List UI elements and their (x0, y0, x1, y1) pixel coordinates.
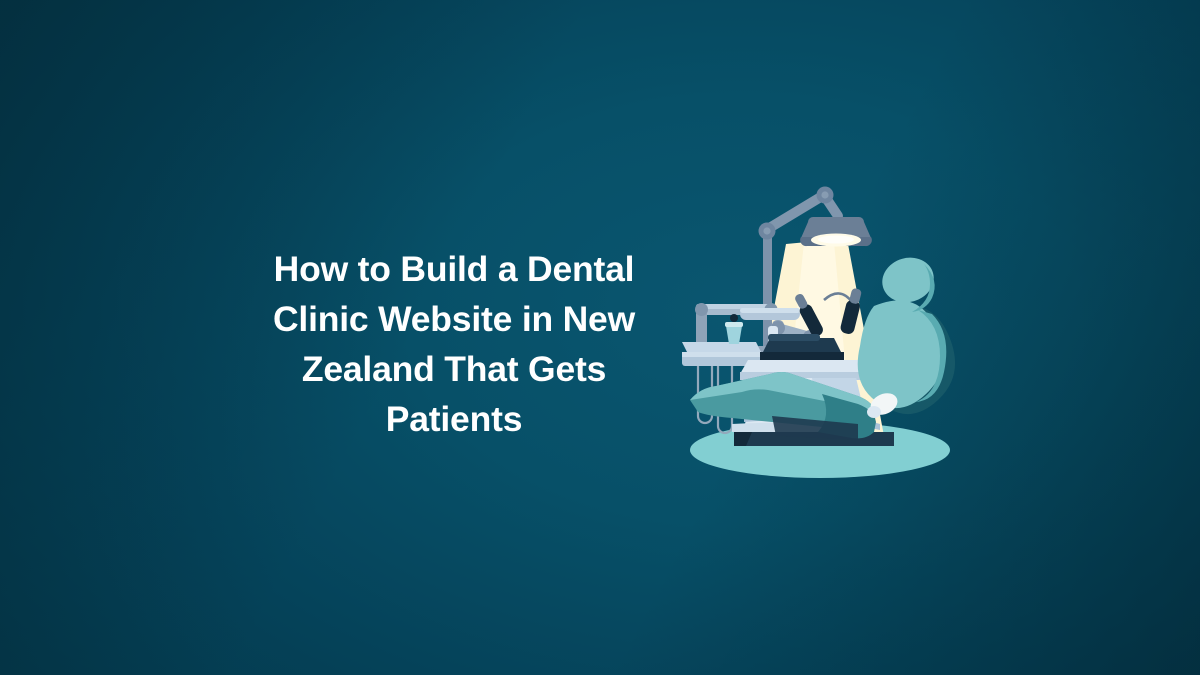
page-title: How to Build a Dental Clinic Website in … (268, 244, 640, 444)
rinse-cup-icon (725, 314, 743, 344)
blog-hero-banner: How to Build a Dental Clinic Website in … (0, 0, 1200, 675)
instrument-console-icon (760, 334, 844, 362)
headline-line-2: Clinic Website in New (268, 294, 640, 344)
chair-backrest-icon (858, 300, 955, 414)
dental-chair-illustration (672, 178, 964, 486)
headline-line-3: Zealand That Gets (268, 344, 640, 394)
headline-line-1: How to Build a Dental (268, 244, 640, 294)
overhead-lamp-icon (800, 217, 872, 247)
headline-line-4: Patients (268, 394, 640, 444)
